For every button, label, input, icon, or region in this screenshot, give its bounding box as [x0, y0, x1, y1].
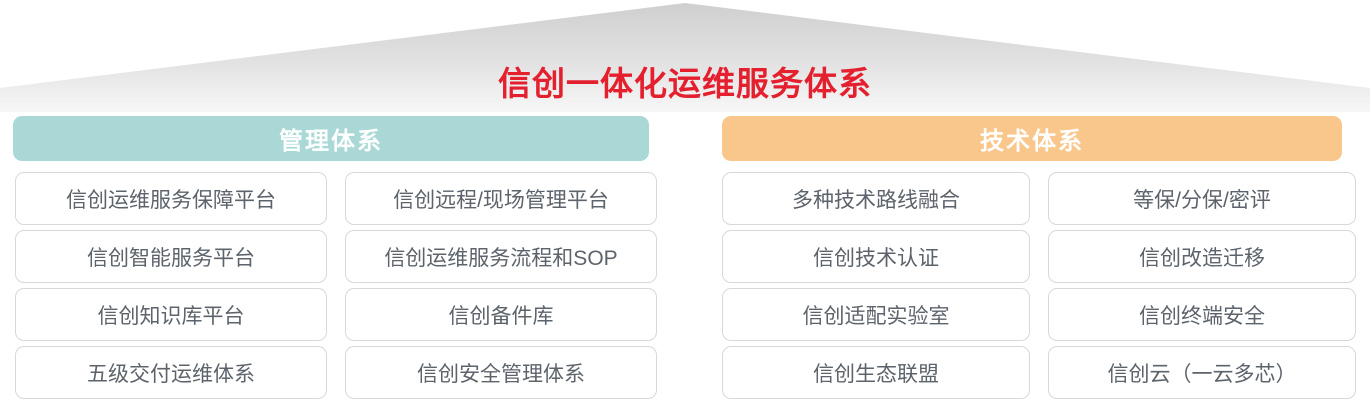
cell-item[interactable]: 信创终端安全: [1048, 288, 1356, 341]
cell-item[interactable]: 信创生态联盟: [722, 346, 1030, 399]
cell-item[interactable]: 信创备件库: [345, 288, 657, 341]
group-technology: 技术体系 多种技术路线融合 等保/分保/密评 信创技术认证 信创改造迁移 信创适…: [722, 116, 1342, 399]
cell-item[interactable]: 信创远程/现场管理平台: [345, 172, 657, 225]
page-title: 信创一体化运维服务体系: [0, 57, 1370, 105]
cell-item[interactable]: 信创智能服务平台: [15, 230, 327, 283]
cell-item[interactable]: 信创运维服务保障平台: [15, 172, 327, 225]
cell-item[interactable]: 五级交付运维体系: [15, 346, 327, 399]
cell-item[interactable]: 信创技术认证: [722, 230, 1030, 283]
cell-item[interactable]: 信创运维服务流程和SOP: [345, 230, 657, 283]
diagram-canvas: 信创一体化运维服务体系 管理体系 信创运维服务保障平台 信创远程/现场管理平台 …: [0, 0, 1370, 418]
group-grid-technology: 多种技术路线融合 等保/分保/密评 信创技术认证 信创改造迁移 信创适配实验室 …: [722, 172, 1356, 399]
cell-item[interactable]: 信创适配实验室: [722, 288, 1030, 341]
cell-item[interactable]: 多种技术路线融合: [722, 172, 1030, 225]
cell-item[interactable]: 信创云（一云多芯）: [1048, 346, 1356, 399]
group-grid-management: 信创运维服务保障平台 信创远程/现场管理平台 信创智能服务平台 信创运维服务流程…: [15, 172, 657, 399]
cell-item[interactable]: 信创改造迁移: [1048, 230, 1356, 283]
cell-item[interactable]: 信创知识库平台: [15, 288, 327, 341]
group-header-technology: 技术体系: [722, 116, 1342, 161]
group-header-management: 管理体系: [13, 116, 649, 161]
group-management: 管理体系 信创运维服务保障平台 信创远程/现场管理平台 信创智能服务平台 信创运…: [13, 116, 649, 399]
cell-item[interactable]: 等保/分保/密评: [1048, 172, 1356, 225]
cell-item[interactable]: 信创安全管理体系: [345, 346, 657, 399]
